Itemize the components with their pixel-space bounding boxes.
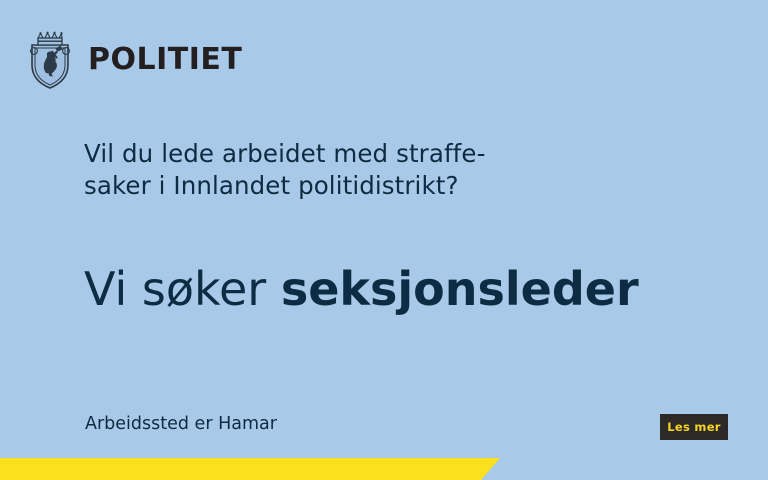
subheading: Vil du lede arbeidet med straffe- saker … <box>84 138 644 203</box>
norwegian-coat-of-arms-icon <box>26 31 74 89</box>
headline: Vi søker seksjonsleder <box>84 264 639 315</box>
read-more-button[interactable]: Les mer <box>660 414 728 440</box>
subheading-line-2: saker i Innlandet politidistrikt? <box>84 170 644 202</box>
headline-lead: Vi søker <box>84 262 281 316</box>
yellow-accent-band <box>0 458 500 480</box>
recruitment-banner: POLITIET Vil du lede arbeidet med straff… <box>0 0 768 480</box>
workplace-text: Arbeidssted er Hamar <box>85 414 277 435</box>
politiet-logo[interactable]: POLITIET <box>26 31 242 89</box>
politiet-wordmark: POLITIET <box>88 45 242 75</box>
headline-emphasis: seksjonsleder <box>281 262 639 316</box>
subheading-line-1: Vil du lede arbeidet med straffe- <box>84 138 644 170</box>
